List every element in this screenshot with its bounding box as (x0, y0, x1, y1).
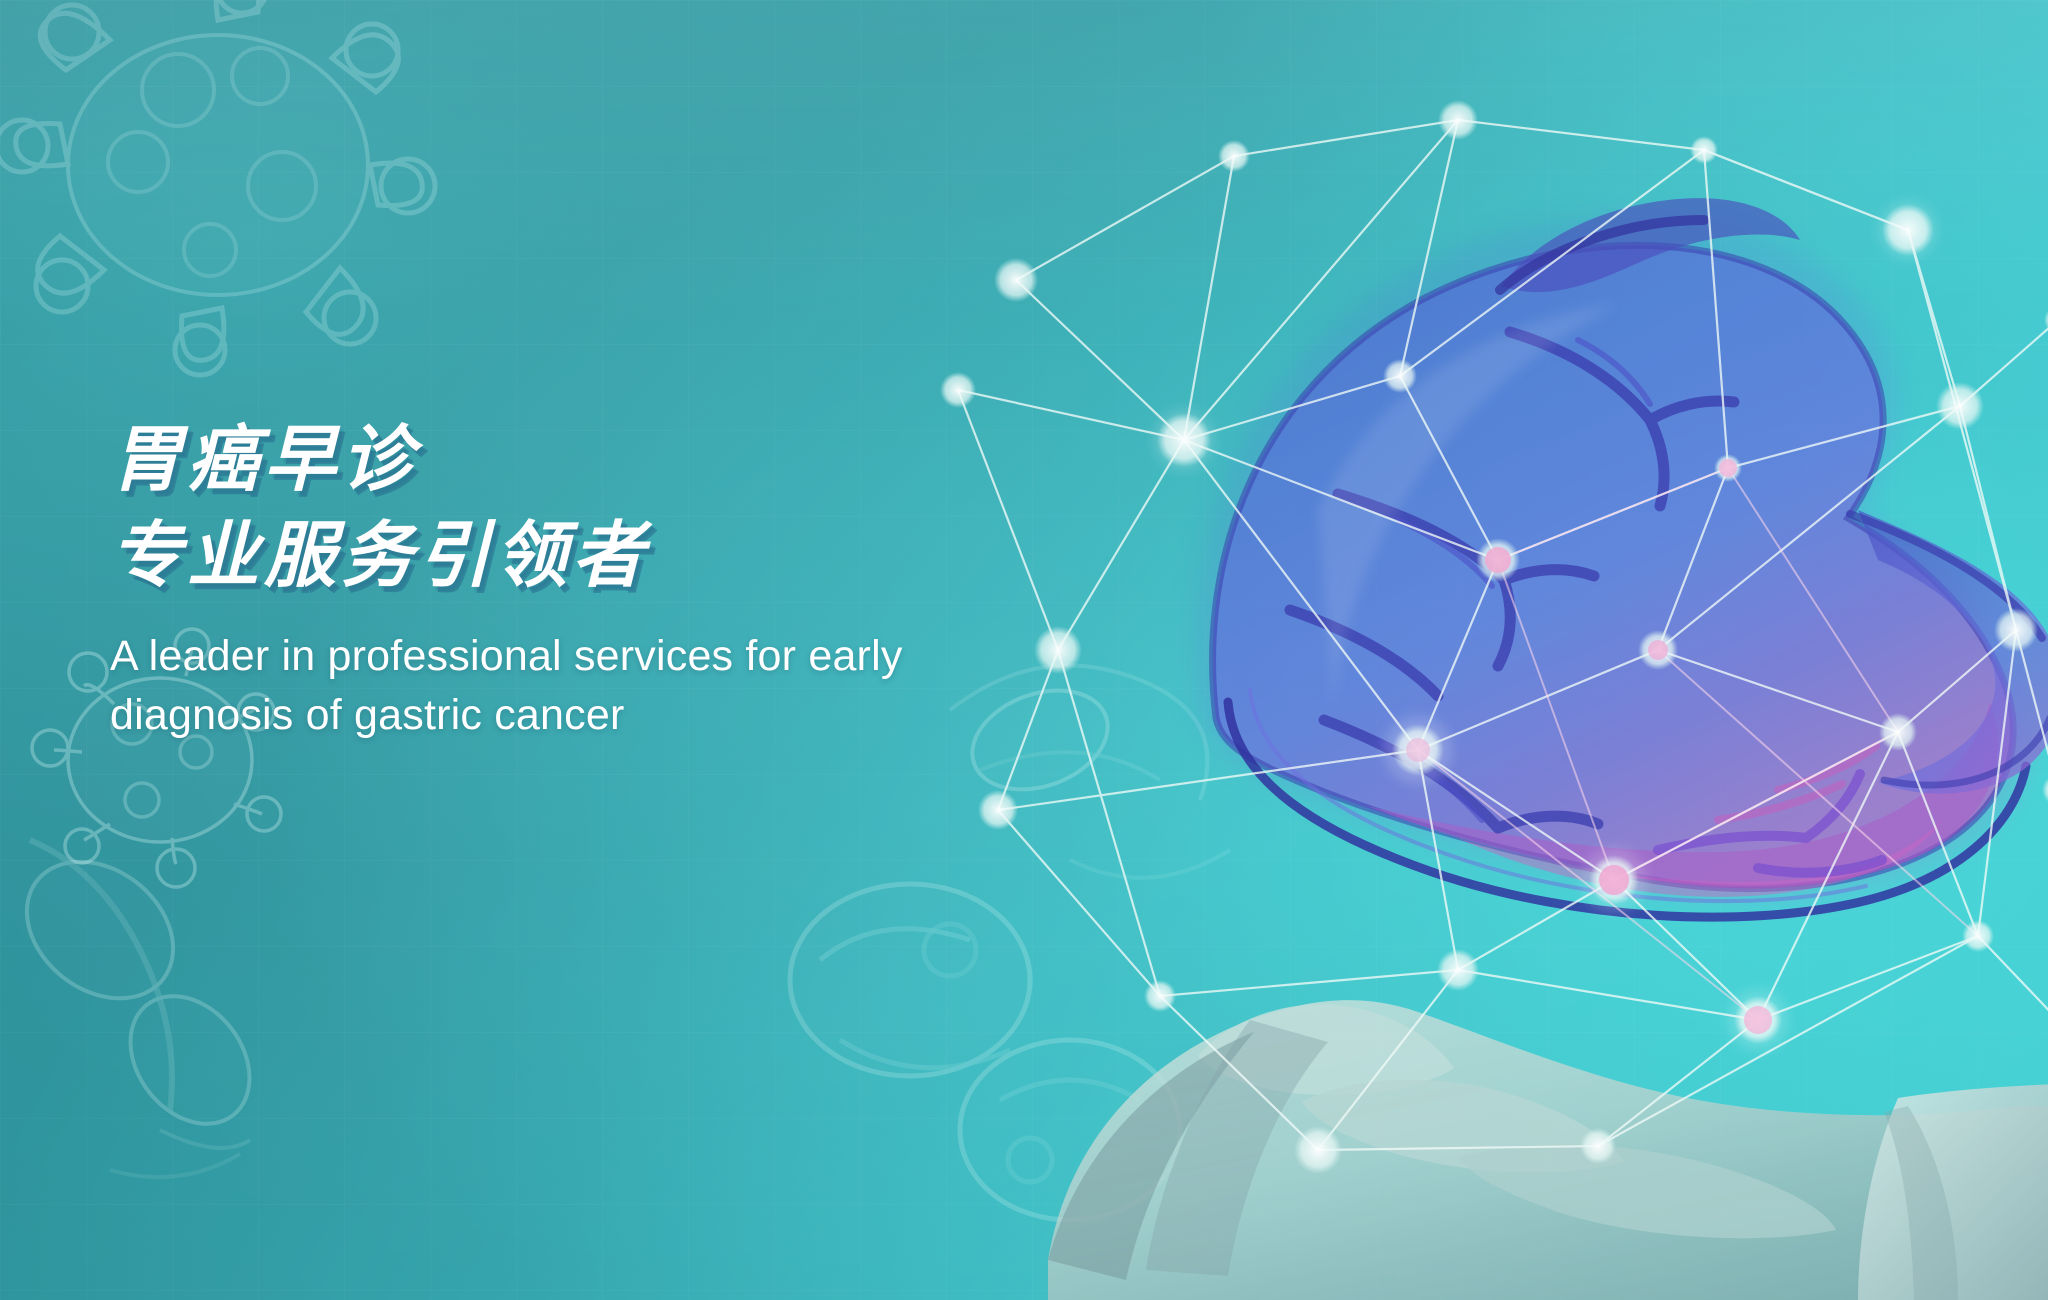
headline-line-2: 专业服务引领者 (110, 514, 1110, 598)
subheadline-line-2: diagnosis of gastric cancer (110, 686, 950, 745)
banner-root: 胃癌早诊 专业服务引领者 A leader in professional se… (0, 0, 2048, 1300)
cell-cluster-icon (700, 830, 1240, 1260)
bacteria-cell-icon (0, 780, 350, 1210)
subheadline: A leader in professional services for ea… (110, 627, 950, 746)
headline-text-block: 胃癌早诊 专业服务引领者 A leader in professional se… (110, 418, 1110, 746)
headline-line-1: 胃癌早诊 (110, 418, 1110, 502)
subheadline-line-1: A leader in professional services for ea… (110, 627, 950, 686)
open-hand-graphic (1048, 1000, 2048, 1300)
top-glow-overlay (0, 0, 2048, 330)
stomach-organ-graphic (1195, 198, 2048, 917)
virus-particle-icon (0, 0, 480, 380)
